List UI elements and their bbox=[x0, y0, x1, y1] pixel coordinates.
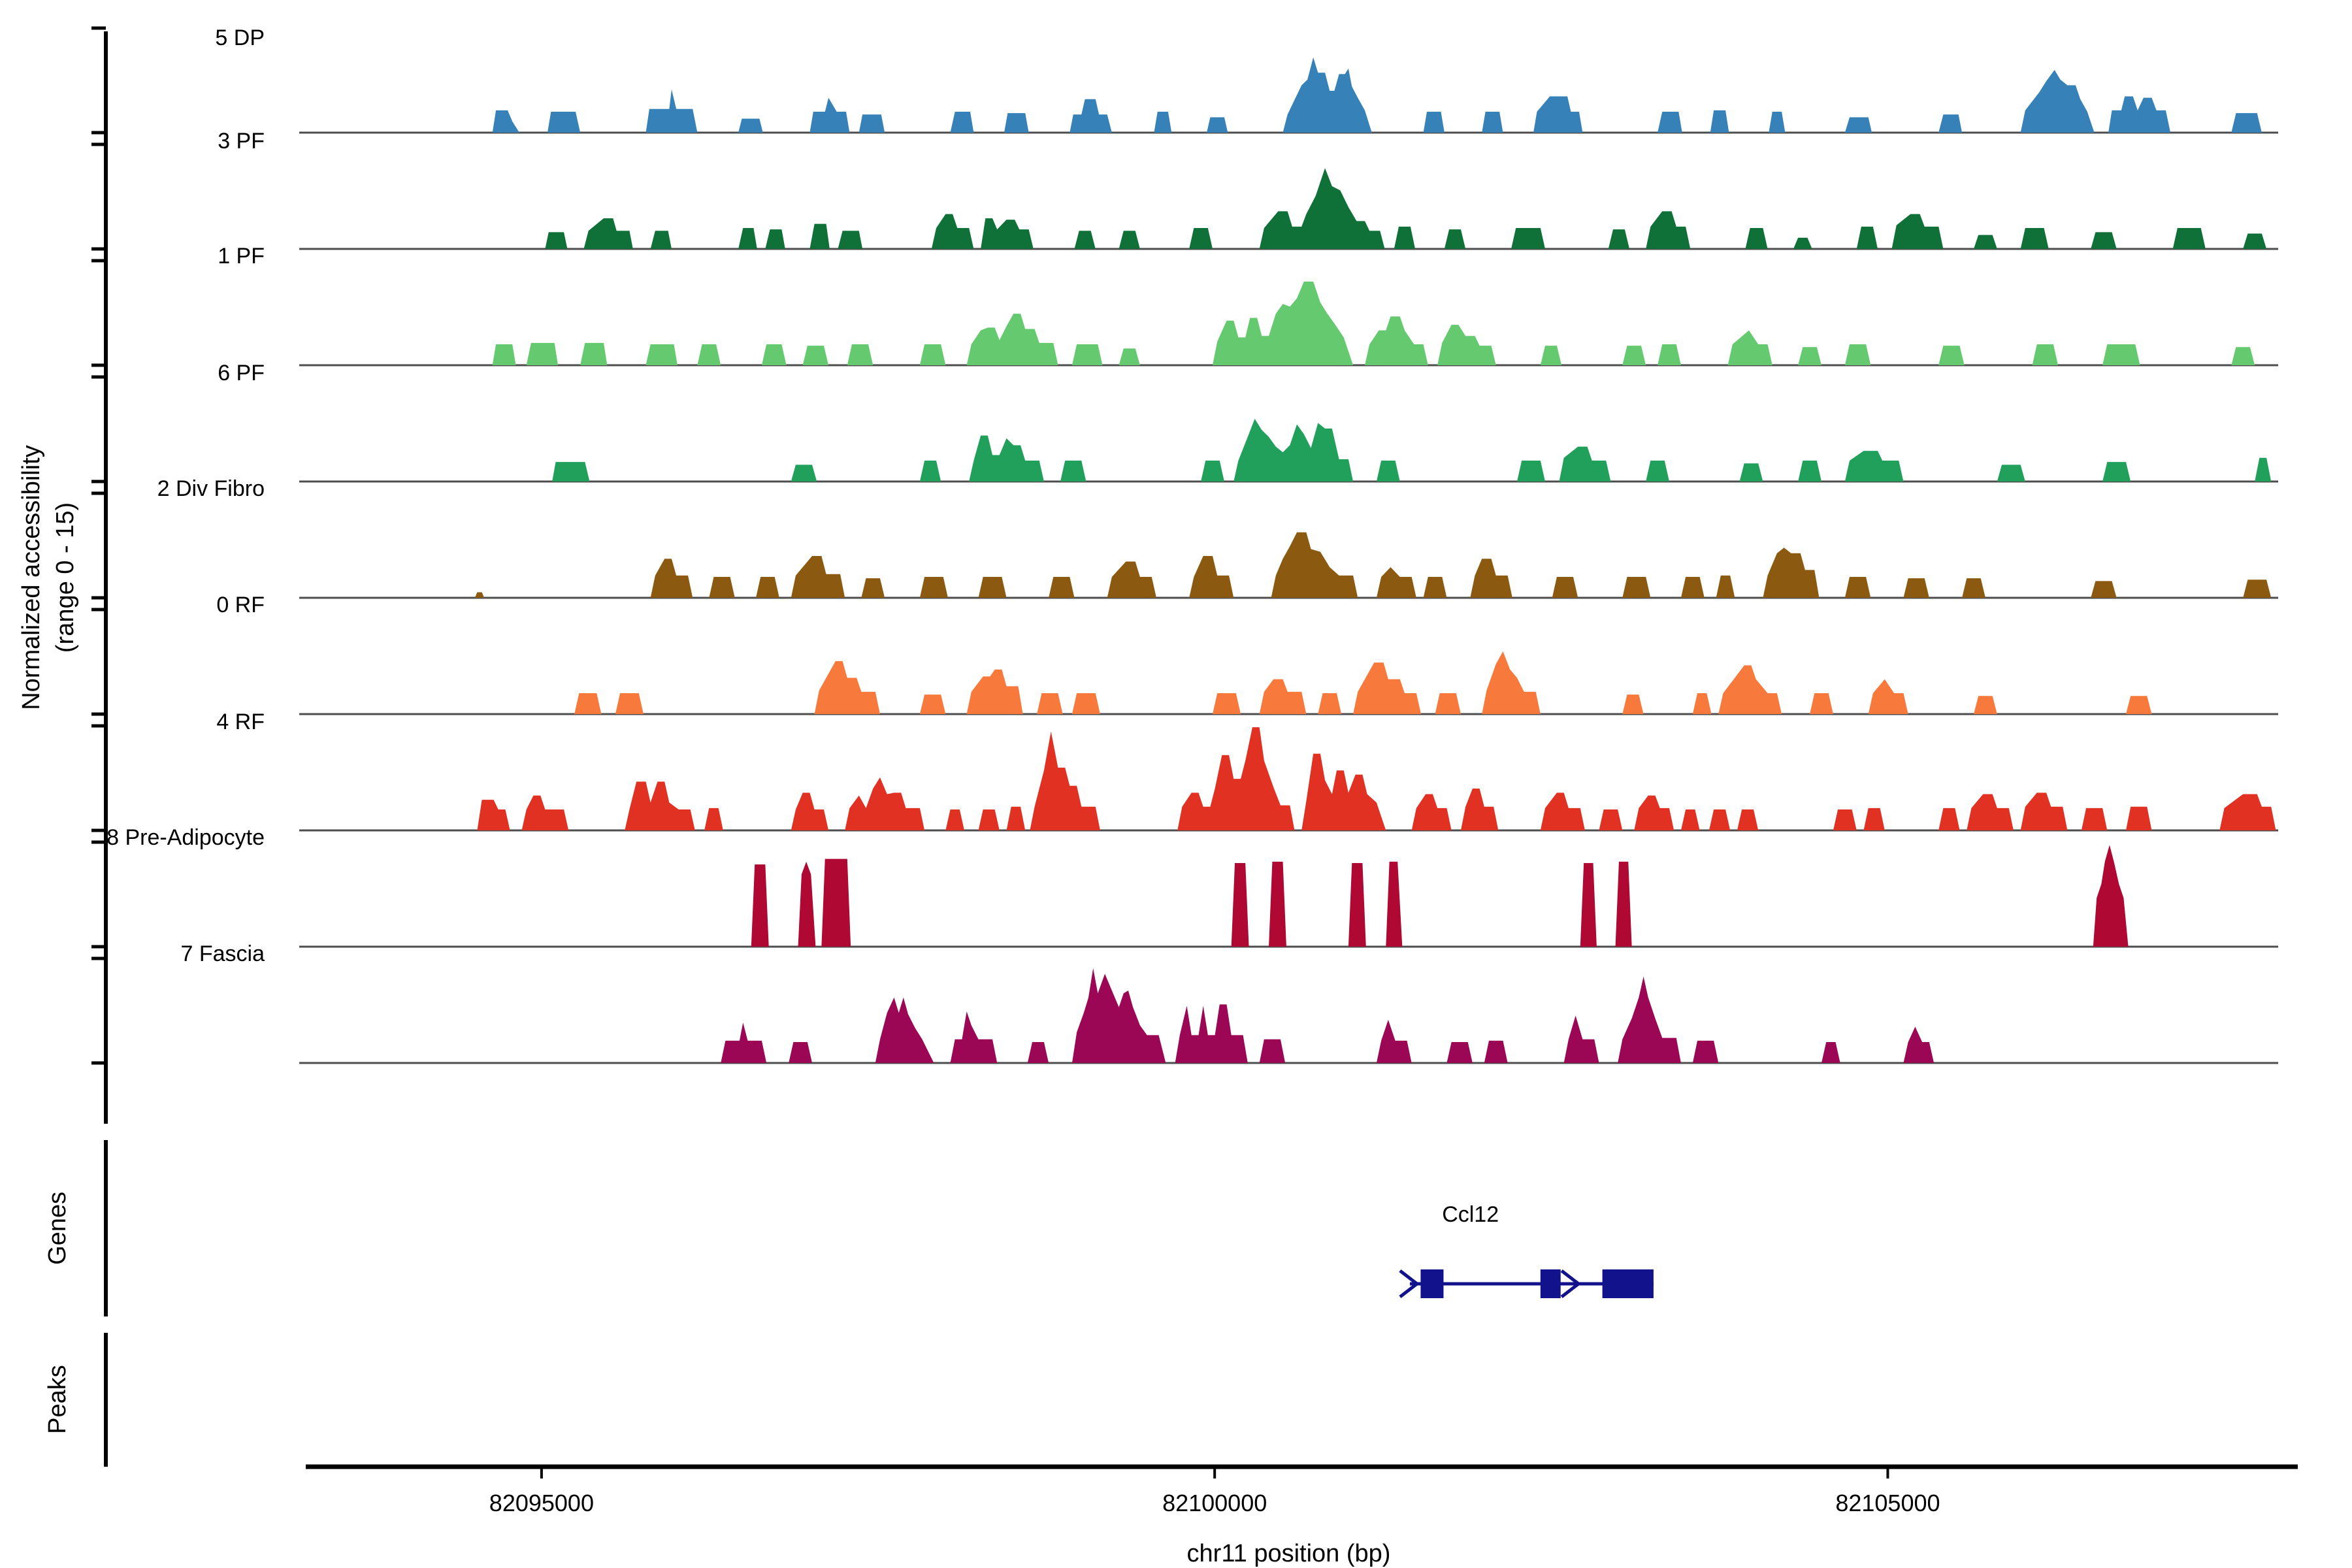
track-label: 5 DP bbox=[215, 25, 265, 50]
x-axis-title: chr11 position (bp) bbox=[1187, 1540, 1391, 1567]
x-axis-group: 820950008210000082105000chr11 position (… bbox=[306, 1467, 2298, 1567]
coverage-track bbox=[299, 651, 2278, 714]
coverage-track bbox=[299, 168, 2278, 249]
gene-exon bbox=[1603, 1269, 1654, 1298]
text-labels-group: 5 DP3 PF1 PF6 PF2 Div Fibro0 RF4 RF8 Pre… bbox=[18, 25, 265, 966]
coverage-area bbox=[477, 727, 2276, 830]
track-label: 2 Div Fibro bbox=[157, 476, 265, 501]
y-axis-title-line2: (range 0 - 15) bbox=[52, 502, 79, 653]
coverage-track bbox=[299, 727, 2278, 830]
figure-canvas: 820950008210000082105000chr11 position (… bbox=[0, 0, 2352, 1568]
track-label: 7 Fascia bbox=[181, 941, 265, 966]
track-label: 6 PF bbox=[218, 361, 265, 385]
gene-name-label: Ccl12 bbox=[1442, 1202, 1499, 1227]
gene-exon bbox=[1420, 1269, 1443, 1298]
section-label-peaks: Peaks bbox=[44, 1365, 71, 1434]
genes-track-group: Ccl12 bbox=[1400, 1202, 1654, 1298]
y-axis-title-line1: Normalized accessibility bbox=[18, 445, 45, 710]
coverage-tracks-group bbox=[299, 57, 2278, 1063]
x-tick-label: 82095000 bbox=[489, 1490, 594, 1516]
gene-model[interactable]: Ccl12 bbox=[1400, 1202, 1654, 1298]
coverage-track bbox=[299, 57, 2278, 133]
track-label: 1 PF bbox=[218, 244, 265, 269]
coverage-track bbox=[299, 845, 2278, 947]
coverage-area bbox=[299, 57, 2262, 133]
section-labels-group: GenesPeaks bbox=[44, 1140, 106, 1467]
coverage-track bbox=[299, 968, 2278, 1063]
coverage-area bbox=[574, 651, 2151, 714]
coverage-area bbox=[545, 168, 2266, 249]
track-label: 8 Pre-Adipocyte bbox=[106, 825, 265, 850]
coverage-track bbox=[299, 419, 2278, 482]
coverage-area bbox=[721, 968, 1934, 1063]
gene-exon bbox=[1541, 1269, 1561, 1298]
track-label: 0 RF bbox=[216, 593, 265, 617]
coverage-track bbox=[299, 282, 2278, 365]
section-label-genes: Genes bbox=[44, 1192, 71, 1265]
coverage-area bbox=[751, 845, 2129, 947]
y-axis-group bbox=[91, 28, 106, 1124]
coverage-area bbox=[475, 532, 2271, 598]
coverage-area bbox=[493, 282, 2255, 365]
x-tick-label: 82100000 bbox=[1162, 1490, 1267, 1516]
track-label: 3 PF bbox=[218, 129, 265, 154]
genome-browser-figure: 820950008210000082105000chr11 position (… bbox=[0, 0, 2352, 1568]
track-label: 4 RF bbox=[216, 710, 265, 734]
coverage-area bbox=[552, 419, 2271, 482]
x-tick-label: 82105000 bbox=[1835, 1490, 1940, 1516]
coverage-track bbox=[299, 532, 2278, 598]
gene-strand-arrow-icon bbox=[1400, 1271, 1417, 1297]
